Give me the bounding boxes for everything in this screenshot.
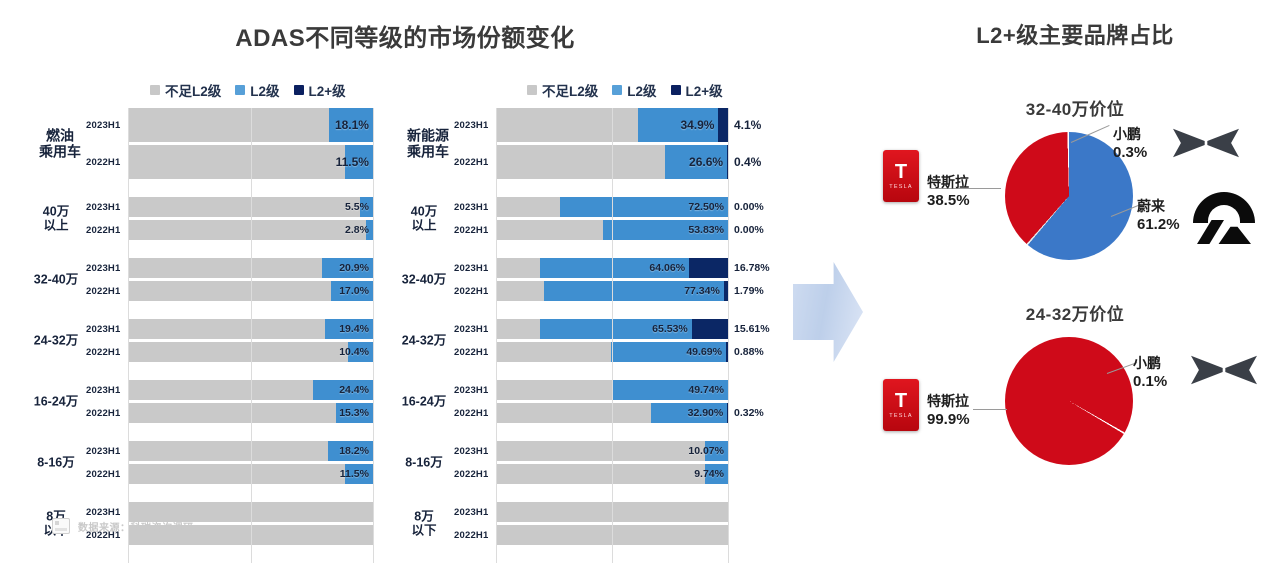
bar-row: 2023H120.9% [86, 258, 390, 278]
pie-label-xpeng: 小鹏 0.3% [1113, 126, 1147, 162]
bar-value-label-l2: 5.5% [345, 201, 369, 213]
bar-track: 19.4% [128, 319, 390, 339]
stacked-bar: 49.69% [496, 342, 728, 362]
bar-segment-below-l2 [496, 197, 560, 217]
bar-row-year: 2023H1 [86, 202, 128, 213]
bar-segment-below-l2 [128, 342, 348, 362]
stacked-bar: 17.0% [128, 281, 373, 301]
bar-segment-below-l2 [496, 281, 544, 301]
pie-chart-24-32 [1005, 337, 1133, 465]
legend-item-l2: L2级 [612, 80, 656, 100]
bar-group-label: 16-24万 [398, 394, 450, 409]
legend-label-l2: L2级 [250, 80, 279, 100]
bar-segment-below-l2 [496, 258, 540, 278]
bar-group: 8-16万2023H118.2%2022H111.5% [30, 441, 390, 484]
bar-group-label-line: 以下 [398, 524, 450, 539]
bar-group: 32-40万2023H164.06%16.78%2022H177.34%1.79… [398, 258, 793, 301]
bar-segment-l2: 65.53% [540, 319, 692, 339]
bar-value-label-l2plus: 0.32% [734, 407, 764, 419]
bar-row-year: 2022H1 [86, 225, 128, 236]
bar-segment-below-l2 [128, 281, 331, 301]
bar-group-label: 新能源乘用车 [400, 127, 456, 160]
bar-row: 2022H115.3% [86, 403, 390, 423]
bar-group-rows: 2023H134.9%4.1%2022H126.6%0.4% [454, 108, 793, 179]
bar-row: 2023H149.74% [454, 380, 793, 400]
bar-row: 2023H118.1% [86, 108, 390, 142]
bar-track: 11.5% [128, 464, 390, 484]
bar-group-rows: 2023H172.50%0.00%2022H153.83%0.00% [454, 197, 793, 240]
bar-row-year: 2022H1 [454, 225, 496, 236]
bar-group-rows: 2023H15.5%2022H12.8% [86, 197, 390, 240]
bar-value-label-l2: 11.5% [340, 468, 369, 480]
bar-value-label-l2: 26.6% [689, 155, 723, 169]
bar-segment-below-l2 [128, 319, 325, 339]
bar-group: 40万以上2023H172.50%0.00%2022H153.83%0.00% [398, 197, 793, 240]
bar-group-label: 16-24万 [30, 394, 82, 409]
bar-track: 2.8% [128, 220, 390, 240]
bar-segment-below-l2 [496, 380, 613, 400]
bar-row-year: 2022H1 [86, 286, 128, 297]
nio-logo [1193, 192, 1255, 244]
bar-track: 5.5% [128, 197, 390, 217]
pie-label-nio-name: 蔚来 [1137, 198, 1180, 216]
bar-segment-l2plus [727, 145, 728, 179]
bar-track: 72.50%0.00% [496, 197, 793, 217]
bar-segment-below-l2 [128, 464, 345, 484]
pie-area: T TESLA 特斯拉 99.9% 小鹏 0.1% [875, 331, 1275, 496]
legend-item-l2: L2级 [235, 80, 279, 100]
stacked-bar: 24.4% [128, 380, 373, 400]
stacked-bar: 65.53% [496, 319, 728, 339]
bar-group-label-line: 40万 [398, 204, 450, 219]
pie-subtitle: 32-40万价位 [875, 95, 1275, 120]
legend-label-below-l2: 不足L2级 [542, 80, 598, 100]
bar-row: 2023H118.2% [86, 441, 390, 461]
bar-group: 24-32万2023H165.53%15.61%2022H149.69%0.88… [398, 319, 793, 362]
bar-value-label-l2plus: 4.1% [734, 118, 761, 132]
bar-segment-l2plus [718, 108, 728, 142]
pie-label-xpeng-pct: 0.3% [1113, 144, 1147, 163]
slide-root: ADAS不同等级的市场份额变化 L2+级主要品牌占比 不足L2级 L2级 L2+… [0, 0, 1280, 547]
stacked-bar: 53.83% [496, 220, 728, 240]
bar-group-rows: 2023H120.9%2022H117.0% [86, 258, 390, 301]
bar-value-label-l2: 77.34% [684, 285, 720, 297]
bar-segment-l2: 77.34% [544, 281, 723, 301]
bar-group: 32-40万2023H120.9%2022H117.0% [30, 258, 390, 301]
bar-segment-below-l2 [496, 342, 611, 362]
stacked-bar: 2.8% [128, 220, 373, 240]
data-source-icon [52, 518, 70, 534]
bar-segment-l2: 17.0% [331, 281, 373, 301]
stacked-bar: 5.5% [128, 197, 373, 217]
bar-group-rows: 2023H118.1%2022H111.5% [86, 108, 390, 179]
bar-segment-l2: 34.9% [638, 108, 719, 142]
bar-segment-below-l2 [496, 108, 638, 142]
bar-segment-below-l2 [128, 380, 313, 400]
pie-label-tesla: 特斯拉 38.5% [927, 174, 970, 210]
bar-segment-below-l2 [496, 525, 728, 545]
bar-row-year: 2023H1 [454, 507, 496, 518]
bar-row-year: 2023H1 [454, 202, 496, 213]
bar-row-year: 2023H1 [86, 507, 128, 518]
bar-group-label-line: 新能源 [400, 127, 456, 144]
xpeng-left-wing-icon [1191, 353, 1224, 387]
bar-segment-below-l2 [496, 220, 603, 240]
bar-value-label-l2: 24.4% [339, 384, 369, 396]
bar-value-label-l2: 64.06% [649, 262, 685, 274]
bar-group-label: 32-40万 [398, 272, 450, 287]
bar-segment-l2: 11.5% [345, 464, 373, 484]
stacked-bar: 72.50% [496, 197, 728, 217]
stacked-bar: 19.4% [128, 319, 373, 339]
pie-label-tesla-pct: 99.9% [927, 411, 970, 430]
bar-segment-l2: 15.3% [336, 403, 373, 423]
pie-label-nio-pct: 61.2% [1137, 216, 1180, 235]
legend-swatch-l2-icon [235, 85, 245, 95]
bar-row-year: 2023H1 [86, 263, 128, 274]
right-panel-title: L2+级主要品牌占比 [880, 18, 1270, 50]
bar-row: 2023H15.5% [86, 197, 390, 217]
bar-row-year: 2022H1 [86, 347, 128, 358]
tesla-logo: T TESLA [883, 379, 919, 431]
bar-segment-l2: 24.4% [313, 380, 373, 400]
legend-label-l2plus: L2+级 [686, 80, 723, 100]
tesla-wordmark: TESLA [889, 184, 912, 190]
pie-label-tesla-name: 特斯拉 [927, 174, 970, 192]
bar-segment-below-l2 [496, 403, 651, 423]
bar-row: 2022H111.5% [86, 145, 390, 179]
nio-sky-arc-icon [1193, 192, 1255, 223]
bar-row: 2022H1 [454, 525, 793, 545]
legend-swatch-l2plus-icon [294, 85, 304, 95]
bar-group-label-line: 16-24万 [30, 394, 82, 409]
bar-row-year: 2023H1 [454, 385, 496, 396]
bar-segment-l2: 11.5% [345, 145, 373, 179]
bar-row: 2023H124.4% [86, 380, 390, 400]
bar-value-label-l2plus: 16.78% [734, 262, 770, 274]
bar-track: 20.9% [128, 258, 390, 278]
bar-segment-below-l2 [128, 441, 328, 461]
bar-group-label: 8-16万 [398, 455, 450, 470]
bar-segment-below-l2 [496, 145, 665, 179]
bar-segment-l2: 64.06% [540, 258, 689, 278]
bar-group-rows: 2023H124.4%2022H115.3% [86, 380, 390, 423]
stacked-bar: 49.74% [496, 380, 728, 400]
bar-group-label-line: 24-32万 [398, 333, 450, 348]
bar-track: 10.4% [128, 342, 390, 362]
bar-segment-below-l2 [496, 319, 540, 339]
flow-arrow-icon [793, 262, 863, 362]
bar-segment-below-l2 [496, 441, 705, 461]
bar-value-label-l2plus: 1.79% [734, 285, 764, 297]
bar-value-label-l2plus: 0.88% [734, 346, 764, 358]
bar-track: 32.90%0.32% [496, 403, 793, 423]
bar-row: 2023H134.9%4.1% [454, 108, 793, 142]
bar-segment-l2: 18.1% [329, 108, 373, 142]
bar-group-label: 8-16万 [30, 455, 82, 470]
bar-row-year: 2023H1 [86, 324, 128, 335]
bar-track: 53.83%0.00% [496, 220, 793, 240]
bar-track: 17.0% [128, 281, 390, 301]
stacked-bar: 10.07% [496, 441, 728, 461]
tesla-logo: T TESLA [883, 150, 919, 202]
stacked-bar: 15.3% [128, 403, 373, 423]
bar-group: 8-16万2023H110.07%2022H19.74% [398, 441, 793, 484]
bar-row-year: 2023H1 [454, 446, 496, 457]
bar-segment-l2: 26.6% [665, 145, 727, 179]
bar-group-rows: 2023H165.53%15.61%2022H149.69%0.88% [454, 319, 793, 362]
bar-group-label-line: 8-16万 [30, 455, 82, 470]
bar-segment-l2: 9.74% [705, 464, 728, 484]
bar-track [496, 525, 793, 545]
legend-swatch-l2plus-icon [671, 85, 681, 95]
bar-segment-below-l2 [496, 464, 705, 484]
legend-swatch-below-l2-icon [150, 85, 160, 95]
bar-segment-l2plus [726, 342, 728, 362]
bar-row: 2022H12.8% [86, 220, 390, 240]
legend-label-l2plus: L2+级 [309, 80, 346, 100]
pie-label-xpeng-pct: 0.1% [1133, 373, 1167, 392]
legend-item-below-l2: 不足L2级 [527, 80, 598, 100]
bar-segment-l2: 53.83% [603, 220, 728, 240]
bar-segment-l2: 10.4% [348, 342, 373, 362]
bar-group: 16-24万2023H124.4%2022H115.3% [30, 380, 390, 423]
xpeng-logo [1173, 126, 1239, 160]
bar-group: 燃油乘用车2023H118.1%2022H111.5% [30, 108, 390, 179]
bar-group-label-line: 燃油 [32, 127, 88, 144]
bar-row: 2023H119.4% [86, 319, 390, 339]
bar-track: 9.74% [496, 464, 793, 484]
bar-row-year: 2023H1 [86, 446, 128, 457]
stacked-bar: 10.4% [128, 342, 373, 362]
bar-row-year: 2022H1 [86, 157, 128, 168]
bar-value-label-l2: 18.2% [339, 445, 369, 457]
pie-label-xpeng-name: 小鹏 [1133, 355, 1167, 373]
bar-row: 2022H132.90%0.32% [454, 403, 793, 423]
bar-segment-l2: 49.74% [613, 380, 728, 400]
tesla-mark-icon: T [895, 391, 907, 411]
bar-segment-l2: 32.90% [651, 403, 727, 423]
bar-segment-below-l2 [496, 502, 728, 522]
bar-value-label-l2: 18.1% [335, 118, 369, 132]
bar-group: 8万以下2023H12022H1 [398, 502, 793, 545]
bar-track: 64.06%16.78% [496, 258, 793, 278]
bar-row: 2022H19.74% [454, 464, 793, 484]
bar-group-label-line: 以上 [398, 219, 450, 234]
stacked-bar: 11.5% [128, 464, 373, 484]
legend-item-l2plus: L2+级 [671, 80, 723, 100]
xpeng-logo [1191, 353, 1257, 387]
bar-segment-l2plus [692, 319, 728, 339]
stacked-bar: 34.9% [496, 108, 728, 142]
bar-value-label-l2plus: 0.4% [734, 155, 761, 169]
bar-row-year: 2023H1 [86, 120, 128, 131]
bar-segment-below-l2 [128, 403, 336, 423]
bar-group-label-line: 乘用车 [400, 144, 456, 161]
tesla-wordmark: TESLA [889, 413, 912, 419]
footer-source-text: 数据来源：科瑞咨询调研 [78, 519, 194, 534]
stacked-bar: 64.06% [496, 258, 728, 278]
bar-group-label-line: 以上 [30, 219, 82, 234]
bar-row-year: 2022H1 [454, 530, 496, 541]
legend-nev-chart: 不足L2级 L2级 L2+级 [527, 80, 723, 100]
bar-row-year: 2023H1 [86, 385, 128, 396]
bar-value-label-l2: 11.5% [336, 155, 369, 169]
bar-row: 2022H126.6%0.4% [454, 145, 793, 179]
bar-value-label-l2plus: 0.00% [734, 201, 764, 213]
bar-segment-l2plus [727, 403, 728, 423]
xpeng-left-wing-icon [1173, 126, 1206, 160]
legend-swatch-below-l2-icon [527, 85, 537, 95]
bar-group-rows: 2023H118.2%2022H111.5% [86, 441, 390, 484]
bar-track: 18.1% [128, 108, 390, 142]
bar-group: 新能源乘用车2023H134.9%4.1%2022H126.6%0.4% [398, 108, 793, 179]
bar-row-year: 2022H1 [86, 408, 128, 419]
main-chart-title: ADAS不同等级的市场份额变化 [180, 18, 630, 53]
bar-row: 2022H117.0% [86, 281, 390, 301]
bar-value-label-l2: 20.9% [339, 262, 369, 274]
bar-group: 40万以上2023H15.5%2022H12.8% [30, 197, 390, 240]
bar-track: 24.4% [128, 380, 390, 400]
bar-group-label-line: 40万 [30, 204, 82, 219]
bar-group-label-line: 8-16万 [398, 455, 450, 470]
bar-row: 2023H172.50%0.00% [454, 197, 793, 217]
bar-value-label-l2: 2.8% [345, 224, 369, 236]
bar-group-rows: 2023H119.4%2022H110.4% [86, 319, 390, 362]
bar-group-label: 24-32万 [398, 333, 450, 348]
bar-segment-below-l2 [128, 197, 360, 217]
bar-row-year: 2022H1 [454, 157, 496, 168]
bar-group-label: 40万以上 [30, 204, 82, 234]
bar-segment-l2: 72.50% [560, 197, 728, 217]
bar-row-year: 2022H1 [454, 408, 496, 419]
bar-value-label-l2: 53.83% [688, 224, 724, 236]
bar-group-label-line: 24-32万 [30, 333, 82, 348]
bar-segment-below-l2 [128, 108, 329, 142]
bar-segment-l2: 2.8% [366, 220, 373, 240]
bar-value-label-l2: 17.0% [339, 285, 369, 297]
bar-row: 2022H177.34%1.79% [454, 281, 793, 301]
bar-value-label-l2: 19.4% [339, 323, 369, 335]
bar-segment-below-l2 [128, 220, 366, 240]
pie-label-nio: 蔚来 61.2% [1137, 198, 1180, 234]
pie-block-24-32: 24-32万价位 T TESLA 特斯拉 99.9% 小鹏 0.1% [875, 300, 1275, 515]
bar-group-label-line: 8万 [398, 509, 450, 524]
pie-label-tesla-pct: 38.5% [927, 192, 970, 211]
bar-value-label-l2: 10.07% [688, 445, 724, 457]
bar-value-label-l2: 9.74% [694, 468, 724, 480]
pie-subtitle: 24-32万价位 [875, 300, 1275, 325]
bar-track: 49.69%0.88% [496, 342, 793, 362]
pie-label-tesla: 特斯拉 99.9% [927, 393, 970, 429]
bar-group-label-line: 32-40万 [398, 272, 450, 287]
bar-group-label-line: 16-24万 [398, 394, 450, 409]
stacked-bar: 32.90% [496, 403, 728, 423]
stacked-bar: 77.34% [496, 281, 728, 301]
fuel-vehicle-bar-chart: 燃油乘用车2023H118.1%2022H111.5%40万以上2023H15.… [30, 108, 390, 493]
bar-row-year: 2023H1 [454, 263, 496, 274]
bar-group-label: 32-40万 [30, 272, 82, 287]
stacked-bar: 11.5% [128, 145, 373, 179]
stacked-bar: 18.2% [128, 441, 373, 461]
bar-group-label: 40万以上 [398, 204, 450, 234]
bar-row-year: 2022H1 [86, 469, 128, 480]
stacked-bar: 18.1% [128, 108, 373, 142]
nio-road-icon [1197, 220, 1251, 244]
bar-value-label-l2plus: 15.61% [734, 323, 770, 335]
bar-group-rows: 2023H110.07%2022H19.74% [454, 441, 793, 484]
nev-bar-chart: 新能源乘用车2023H134.9%4.1%2022H126.6%0.4%40万以… [398, 108, 793, 493]
bar-track: 26.6%0.4% [496, 145, 793, 179]
stacked-bar: 9.74% [496, 464, 728, 484]
bar-value-label-l2: 15.3% [339, 407, 369, 419]
bar-track: 77.34%1.79% [496, 281, 793, 301]
bar-value-label-l2: 49.74% [688, 384, 724, 396]
bar-row: 2022H149.69%0.88% [454, 342, 793, 362]
bar-track: 49.74% [496, 380, 793, 400]
stacked-bar: 26.6% [496, 145, 728, 179]
bar-group-label: 24-32万 [30, 333, 82, 348]
bar-row: 2022H110.4% [86, 342, 390, 362]
bar-segment-l2: 19.4% [325, 319, 373, 339]
bar-row: 2023H110.07% [454, 441, 793, 461]
pie-block-32-40: 32-40万价位 T TESLA 特斯拉 38.5% 小鹏 0.3% [875, 95, 1275, 295]
bar-group-rows: 2023H12022H1 [454, 502, 793, 545]
stacked-bar: 20.9% [128, 258, 373, 278]
legend-swatch-l2-icon [612, 85, 622, 95]
bar-row: 2022H153.83%0.00% [454, 220, 793, 240]
bar-row-year: 2022H1 [454, 286, 496, 297]
stacked-bar [496, 502, 728, 522]
bar-segment-l2: 49.69% [611, 342, 726, 362]
bar-group-label: 燃油乘用车 [32, 127, 88, 160]
legend-label-l2: L2级 [627, 80, 656, 100]
bar-segment-l2plus [689, 258, 728, 278]
bar-row: 2023H165.53%15.61% [454, 319, 793, 339]
bar-segment-l2: 20.9% [322, 258, 373, 278]
bar-value-label-l2: 34.9% [680, 118, 714, 132]
bar-row-year: 2022H1 [454, 347, 496, 358]
bar-row: 2023H164.06%16.78% [454, 258, 793, 278]
bar-group-label: 8万以下 [398, 509, 450, 539]
footer-source: 数据来源：科瑞咨询调研 [52, 518, 194, 534]
xpeng-right-wing-icon [1224, 353, 1257, 387]
bar-segment-below-l2 [128, 258, 322, 278]
bar-track: 65.53%15.61% [496, 319, 793, 339]
leader-line-tesla [973, 409, 1007, 410]
bar-row: 2023H1 [454, 502, 793, 522]
legend-item-below-l2: 不足L2级 [150, 80, 221, 100]
bar-row-year: 2023H1 [454, 120, 496, 131]
pie-label-xpeng: 小鹏 0.1% [1133, 355, 1167, 391]
bar-group-label-line: 32-40万 [30, 272, 82, 287]
bar-group: 24-32万2023H119.4%2022H110.4% [30, 319, 390, 362]
bar-group-rows: 2023H164.06%16.78%2022H177.34%1.79% [454, 258, 793, 301]
bar-value-label-l2: 32.90% [688, 407, 724, 419]
bar-row-year: 2023H1 [454, 324, 496, 335]
pie-label-xpeng-name: 小鹏 [1113, 126, 1147, 144]
legend-label-below-l2: 不足L2级 [165, 80, 221, 100]
bar-value-label-l2: 72.50% [688, 201, 724, 213]
bar-segment-l2: 5.5% [360, 197, 373, 217]
bar-track: 10.07% [496, 441, 793, 461]
bar-segment-below-l2 [128, 145, 345, 179]
bar-row: 2022H111.5% [86, 464, 390, 484]
bar-value-label-l2: 10.4% [339, 346, 369, 358]
bar-segment-l2: 10.07% [705, 441, 728, 461]
bar-track: 18.2% [128, 441, 390, 461]
bar-value-label-l2plus: 0.00% [734, 224, 764, 236]
